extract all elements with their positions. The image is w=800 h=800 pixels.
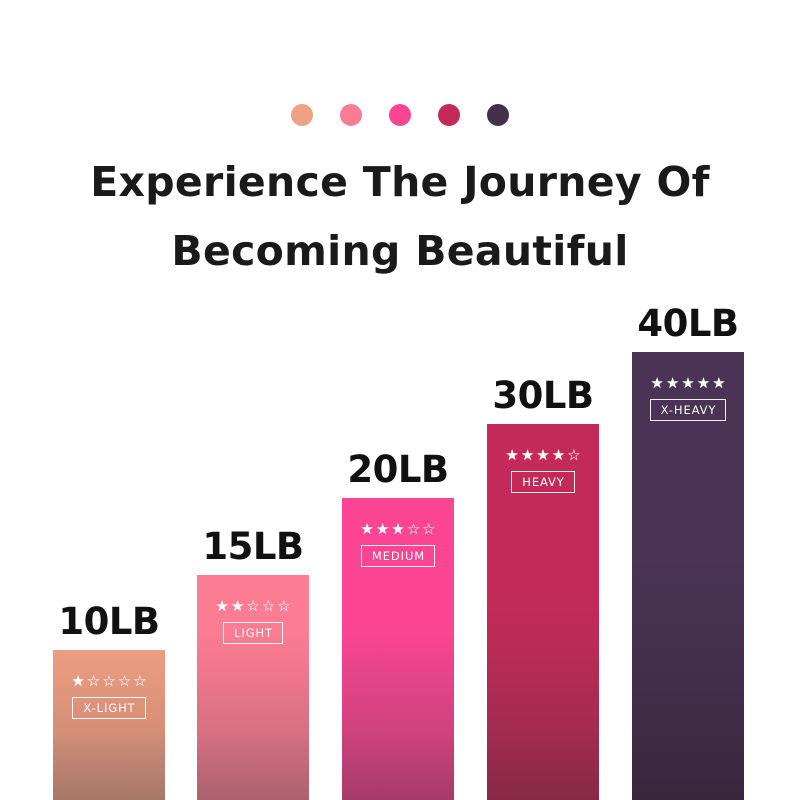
bar-badge: ★★★☆☆MEDIUM bbox=[342, 522, 454, 567]
bar-heavy[interactable]: ★★★★☆HEAVY bbox=[487, 424, 599, 800]
bar-bottom-shadow bbox=[487, 630, 599, 800]
bar-level-badge: HEAVY bbox=[511, 471, 574, 493]
star-empty-icon: ☆ bbox=[102, 674, 115, 690]
bar-weight-label: 30LB bbox=[487, 376, 599, 416]
star-empty-icon: ☆ bbox=[277, 599, 290, 615]
star-filled-icon: ★ bbox=[71, 674, 84, 690]
bar-bottom-shadow bbox=[342, 630, 454, 800]
bar-group: 15LB★★☆☆☆LIGHT bbox=[197, 0, 309, 800]
star-filled-icon: ★ bbox=[650, 376, 663, 392]
poster-canvas: Experience The Journey Of Becoming Beaut… bbox=[0, 0, 800, 800]
star-rating: ★★★☆☆ bbox=[360, 522, 435, 538]
bar-badge: ★★☆☆☆LIGHT bbox=[197, 599, 309, 644]
star-rating: ★☆☆☆☆ bbox=[71, 674, 146, 690]
star-filled-icon: ★ bbox=[681, 376, 694, 392]
bar-bottom-shadow bbox=[632, 630, 744, 800]
star-filled-icon: ★ bbox=[391, 522, 404, 538]
star-filled-icon: ★ bbox=[666, 376, 679, 392]
bar-group: 10LB★☆☆☆☆X-LIGHT bbox=[53, 0, 165, 800]
bar-weight-label: 15LB bbox=[197, 527, 309, 567]
star-empty-icon: ☆ bbox=[422, 522, 435, 538]
bar-group: 20LB★★★☆☆MEDIUM bbox=[342, 0, 454, 800]
star-filled-icon: ★ bbox=[712, 376, 725, 392]
star-filled-icon: ★ bbox=[215, 599, 228, 615]
bar-weight-label: 20LB bbox=[342, 450, 454, 490]
star-filled-icon: ★ bbox=[536, 448, 549, 464]
star-empty-icon: ☆ bbox=[133, 674, 146, 690]
star-empty-icon: ☆ bbox=[262, 599, 275, 615]
bar-group: 40LB★★★★★X-HEAVY bbox=[632, 0, 744, 800]
bar-medium[interactable]: ★★★☆☆MEDIUM bbox=[342, 498, 454, 800]
star-rating: ★★★★★ bbox=[650, 376, 725, 392]
bar-x-heavy[interactable]: ★★★★★X-HEAVY bbox=[632, 352, 744, 800]
star-rating: ★★★★☆ bbox=[505, 448, 580, 464]
bar-weight-label: 40LB bbox=[632, 304, 744, 344]
bar-badge: ★★★★☆HEAVY bbox=[487, 448, 599, 493]
star-empty-icon: ☆ bbox=[246, 599, 259, 615]
star-empty-icon: ☆ bbox=[87, 674, 100, 690]
bar-level-badge: X-HEAVY bbox=[650, 399, 727, 421]
bar-badge: ★★★★★X-HEAVY bbox=[632, 376, 744, 421]
star-filled-icon: ★ bbox=[231, 599, 244, 615]
bar-bottom-shadow bbox=[197, 630, 309, 800]
bar-level-badge: X-LIGHT bbox=[72, 697, 145, 719]
star-filled-icon: ★ bbox=[505, 448, 518, 464]
star-filled-icon: ★ bbox=[521, 448, 534, 464]
bar-badge: ★☆☆☆☆X-LIGHT bbox=[53, 674, 165, 719]
star-filled-icon: ★ bbox=[360, 522, 373, 538]
bar-weight-label: 10LB bbox=[53, 602, 165, 642]
star-empty-icon: ☆ bbox=[118, 674, 131, 690]
star-empty-icon: ☆ bbox=[407, 522, 420, 538]
bar-level-badge: LIGHT bbox=[223, 622, 283, 644]
star-empty-icon: ☆ bbox=[567, 448, 580, 464]
resistance-bar-chart: 10LB★☆☆☆☆X-LIGHT15LB★★☆☆☆LIGHT20LB★★★☆☆M… bbox=[0, 0, 800, 800]
star-filled-icon: ★ bbox=[697, 376, 710, 392]
star-filled-icon: ★ bbox=[552, 448, 565, 464]
star-filled-icon: ★ bbox=[376, 522, 389, 538]
bar-group: 30LB★★★★☆HEAVY bbox=[487, 0, 599, 800]
bar-level-badge: MEDIUM bbox=[361, 545, 435, 567]
star-rating: ★★☆☆☆ bbox=[215, 599, 290, 615]
bar-x-light[interactable]: ★☆☆☆☆X-LIGHT bbox=[53, 650, 165, 800]
bar-light[interactable]: ★★☆☆☆LIGHT bbox=[197, 575, 309, 800]
